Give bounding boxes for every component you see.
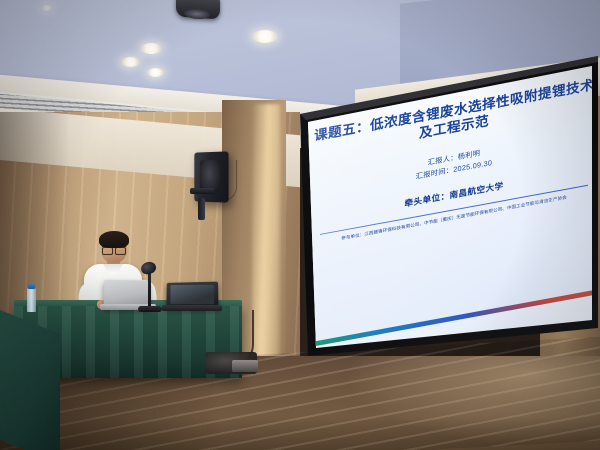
screen-surface: 国家重点研发计划项目阶段推进会 南 Nanchang Hangkong Univ… — [286, 56, 598, 356]
conference-room-photo: 国家重点研发计划项目阶段推进会 南 Nanchang Hangkong Univ… — [0, 0, 600, 450]
downlight-icon — [147, 68, 164, 77]
bottle-cap — [28, 283, 35, 289]
glasses-icon — [102, 246, 126, 253]
floor-light-reflection — [330, 356, 600, 450]
downlight-icon — [121, 57, 140, 67]
university-logo-english: Nanchang Hangkong University — [439, 56, 520, 65]
university-logo: 南 — [477, 56, 516, 58]
speaker-bracket-arm — [190, 188, 214, 194]
downlight-icon — [140, 43, 162, 54]
downlight-icon — [252, 30, 278, 43]
downlight-icon — [42, 5, 52, 11]
university-seal-icon — [477, 56, 500, 58]
projector-icon — [176, 0, 220, 20]
laptop-black-screen — [170, 285, 214, 304]
microphone-base — [138, 306, 162, 312]
projection-screen: 国家重点研发计划项目阶段推进会 南 Nanchang Hangkong Univ… — [286, 56, 598, 356]
wall-speaker-icon — [194, 151, 228, 202]
meeting-ribbon-label: 国家重点研发计划项目阶段推进会 — [308, 64, 407, 94]
laptop-black-base — [162, 305, 222, 311]
speaker-bracket-post — [198, 198, 205, 220]
water-bottle-icon — [27, 288, 36, 312]
microphone-stand — [148, 270, 151, 310]
presentation-slide: 国家重点研发计划项目阶段推进会 南 Nanchang Hangkong Univ… — [296, 56, 598, 350]
av-equipment-box — [232, 360, 258, 372]
